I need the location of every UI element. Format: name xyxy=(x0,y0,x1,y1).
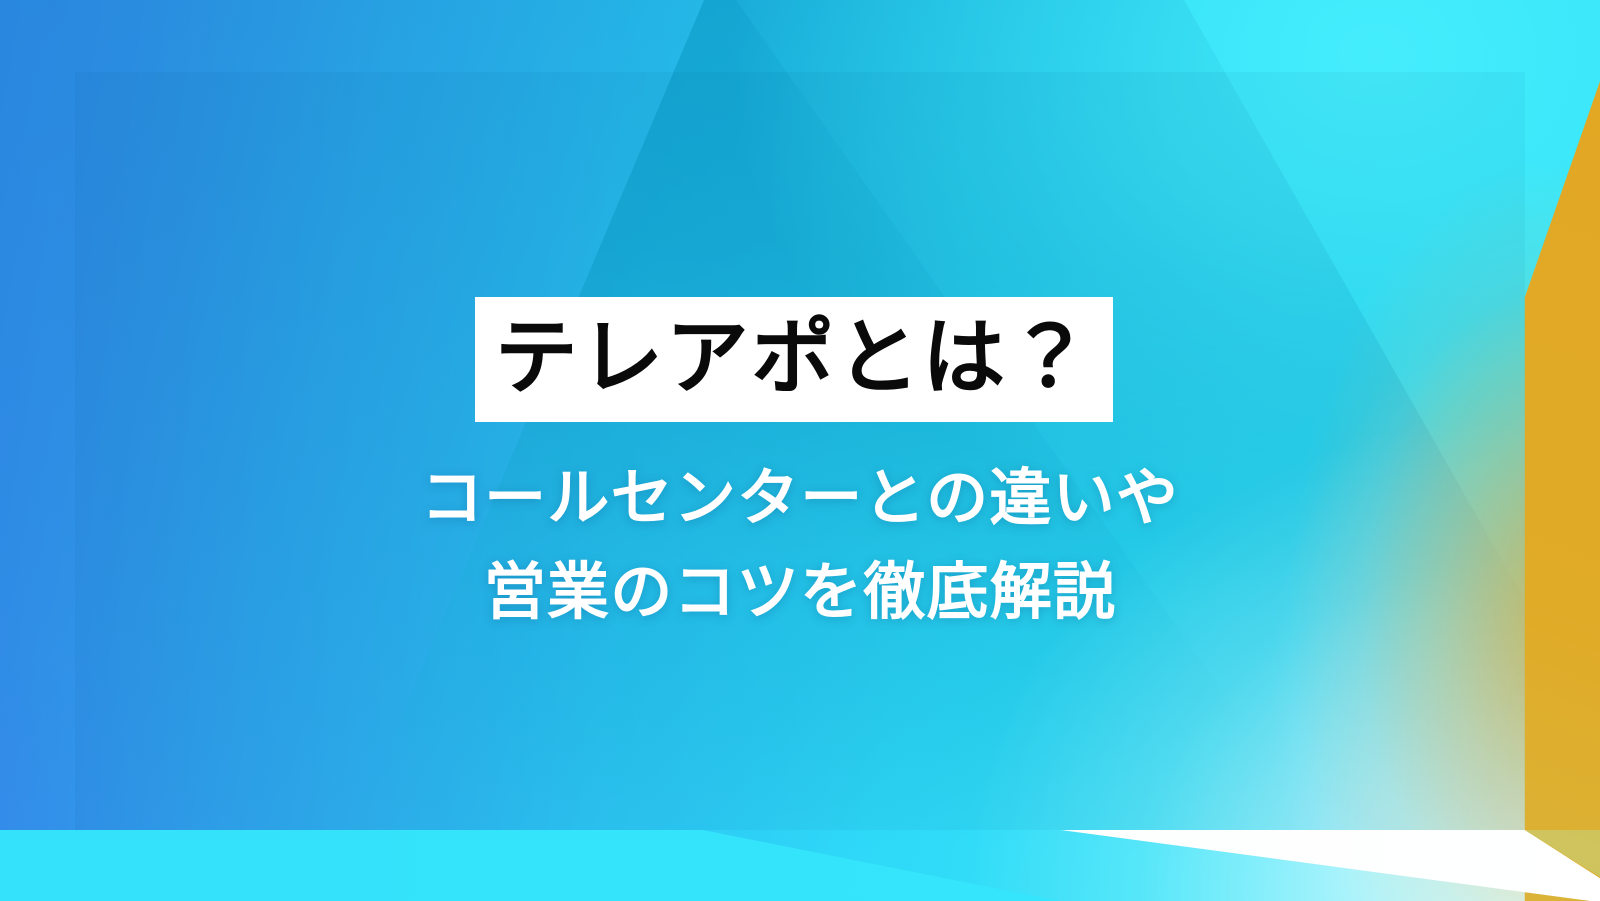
page-title: テレアポとは？ xyxy=(495,316,1093,399)
banner: テレアポとは？ コールセンターとの違いや 営業のコツを徹底解説 xyxy=(0,0,1600,901)
subtitle-line-1: コールセンターとの違いや xyxy=(0,452,1600,546)
subtitle: コールセンターとの違いや 営業のコツを徹底解説 xyxy=(0,452,1600,640)
banner-content: テレアポとは？ コールセンターとの違いや 営業のコツを徹底解説 xyxy=(0,0,1600,901)
title-highlight-band: テレアポとは？ xyxy=(475,297,1113,422)
subtitle-line-2: 営業のコツを徹底解説 xyxy=(0,546,1600,640)
